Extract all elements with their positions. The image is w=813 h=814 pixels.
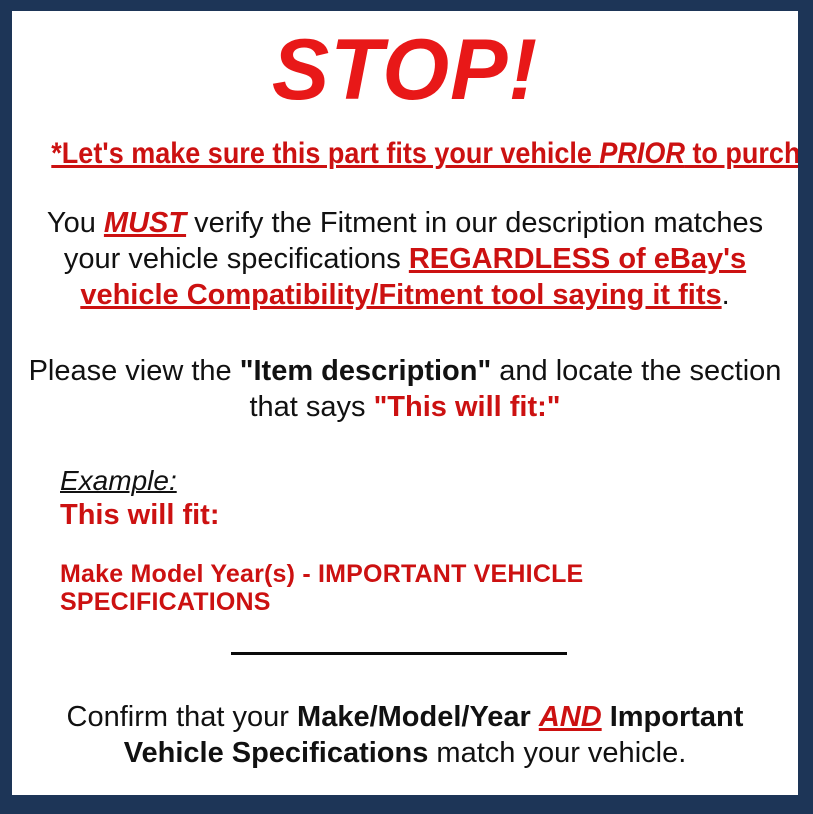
fitment-notice-banner: STOP! *Let's make sure this part fits yo… xyxy=(0,0,813,814)
confirm-space-2 xyxy=(602,701,610,733)
make-model-year-label: Make/Model/Year xyxy=(297,701,531,733)
divider-wrap xyxy=(12,642,798,660)
confirm-paragraph: Confirm that your Make/Model/Year AND Im… xyxy=(12,700,798,772)
must-seg-5: . xyxy=(722,279,730,311)
must-seg-1: You xyxy=(47,207,104,239)
tagline: *Let's make sure this part fits your veh… xyxy=(51,137,758,170)
tagline-trail: to purchasing* xyxy=(685,137,813,170)
example-fit-line: This will fit: xyxy=(60,500,798,532)
tagline-emphasis: PRIOR xyxy=(599,137,685,170)
please-seg-1: Please view the xyxy=(29,355,240,387)
example-label-row: Example: xyxy=(60,466,798,497)
example-spec-line: Make Model Year(s) - IMPORTANT VEHICLE S… xyxy=(60,561,798,616)
stop-headline: STOP! xyxy=(12,27,798,113)
please-view-paragraph: Please view the "Item description" and l… xyxy=(12,354,798,426)
confirm-seg-1: Confirm that your xyxy=(67,701,297,733)
horizontal-divider xyxy=(231,652,567,655)
item-description-label: "Item description" xyxy=(240,355,491,387)
example-label: Example: xyxy=(60,466,177,497)
banner-inner-canvas: STOP! *Let's make sure this part fits yo… xyxy=(12,27,798,811)
must-emphasis: MUST xyxy=(104,207,186,239)
must-verify-paragraph: You MUST verify the Fitment in our descr… xyxy=(12,206,798,314)
example-block: Example: This will fit: Make Model Year(… xyxy=(12,466,798,617)
this-will-fit-quote: "This will fit:" xyxy=(374,391,561,423)
tagline-lead: *Let's make sure this part fits your veh… xyxy=(51,137,599,170)
confirm-space-1 xyxy=(531,701,539,733)
and-emphasis: AND xyxy=(539,701,602,733)
confirm-seg-5: match your vehicle. xyxy=(428,737,686,769)
